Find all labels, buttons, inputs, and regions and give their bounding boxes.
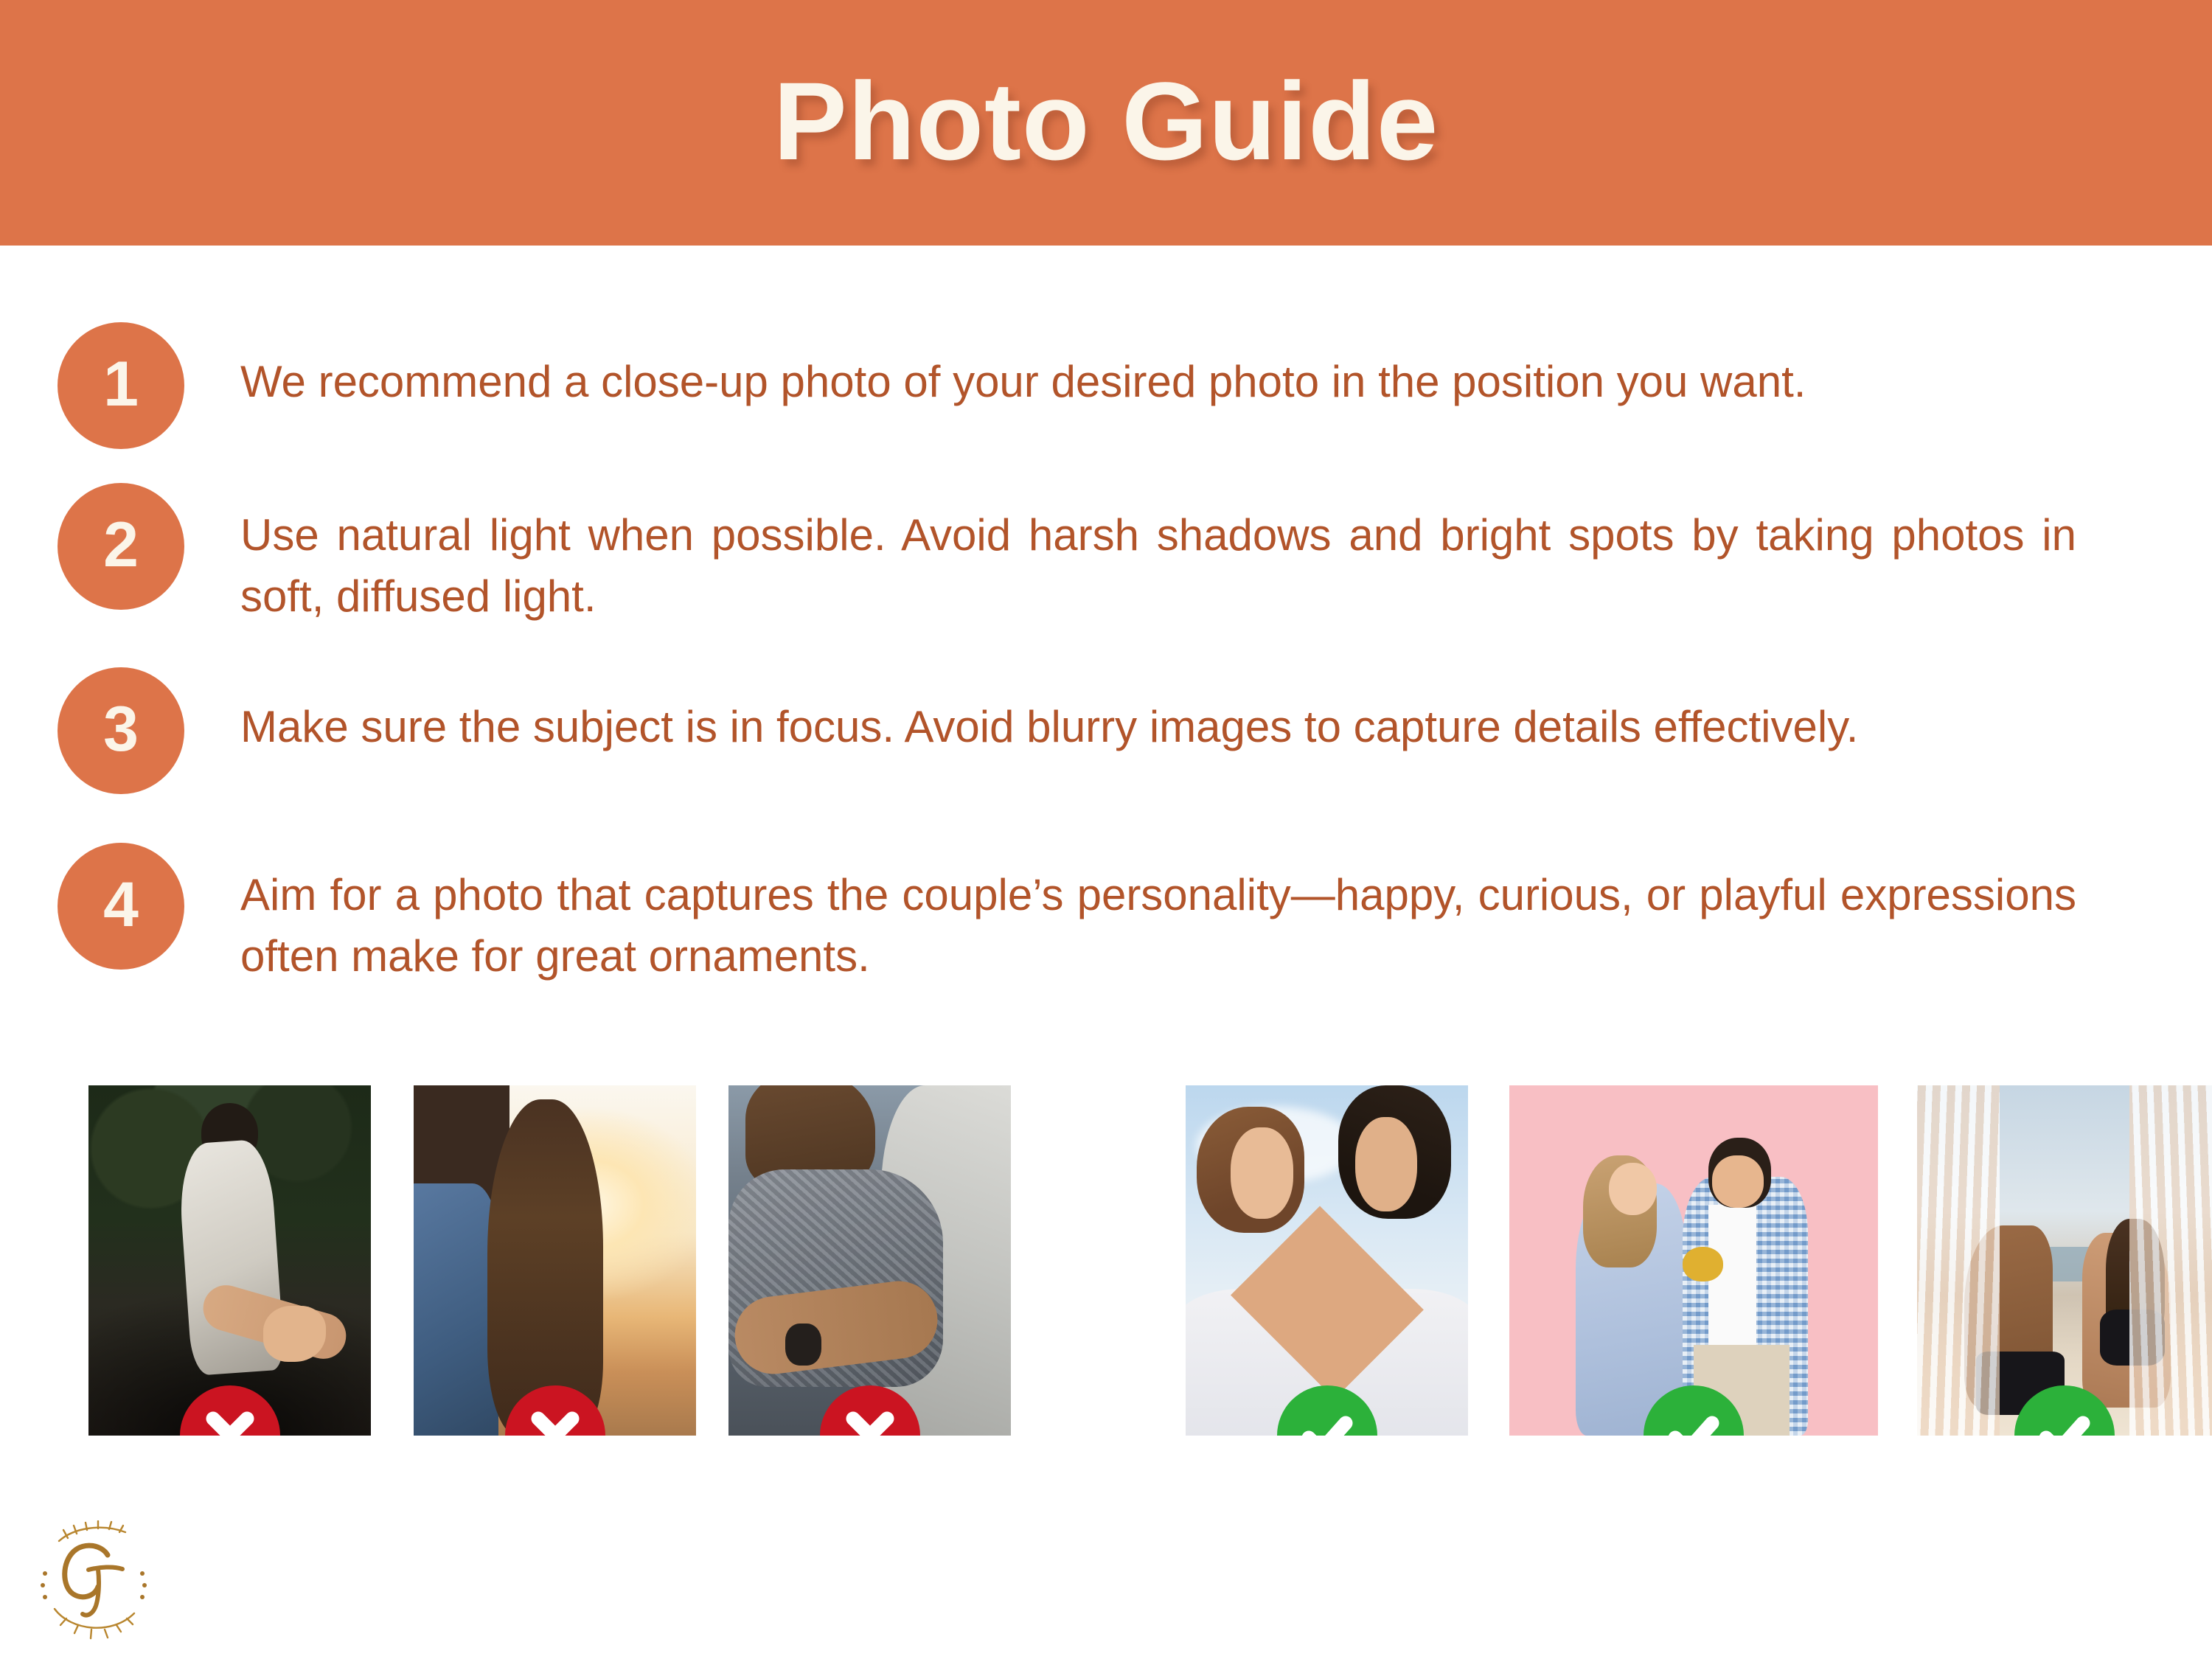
step-text-2: Use natural light when possible. Avoid h… (240, 505, 2076, 627)
step-number-badge-3: 3 (58, 667, 184, 794)
guide-step-4: 4 Aim for a photo that captures the coup… (58, 843, 2076, 987)
step-text-4: Aim for a photo that captures the couple… (240, 865, 2076, 987)
good-example-photo-2 (1509, 1085, 1878, 1436)
step-number-badge-4: 4 (58, 843, 184, 970)
guide-step-3: 3 Make sure the subject is in focus. Avo… (58, 667, 2076, 794)
photo-examples-strip (0, 1085, 2212, 1513)
guide-step-1: 1 We recommend a close-up photo of your … (58, 322, 2076, 449)
photo-thumbnail (88, 1085, 371, 1436)
step-text-1: We recommend a close-up photo of your de… (240, 352, 2076, 413)
guide-step-2: 2 Use natural light when possible. Avoid… (58, 483, 2076, 627)
bad-example-photo-3 (728, 1085, 1011, 1436)
bad-example-photo-1 (88, 1085, 371, 1436)
good-example-photo-1 (1186, 1085, 1468, 1436)
photo-thumbnail (414, 1085, 696, 1436)
laurel-monogram-logo (25, 1520, 162, 1649)
photo-thumbnail (1186, 1085, 1468, 1436)
step-text-3: Make sure the subject is in focus. Avoid… (240, 697, 2076, 758)
photo-thumbnail (1917, 1085, 2212, 1436)
step-number-badge-1: 1 (58, 322, 184, 449)
page-header: Photo Guide (0, 0, 2212, 246)
photo-thumbnail (1509, 1085, 1878, 1436)
bad-example-photo-2 (414, 1085, 696, 1436)
good-example-photo-3 (1917, 1085, 2212, 1436)
page-title: Photo Guide (773, 66, 1439, 176)
photo-thumbnail (728, 1085, 1011, 1436)
step-number-badge-2: 2 (58, 483, 184, 610)
